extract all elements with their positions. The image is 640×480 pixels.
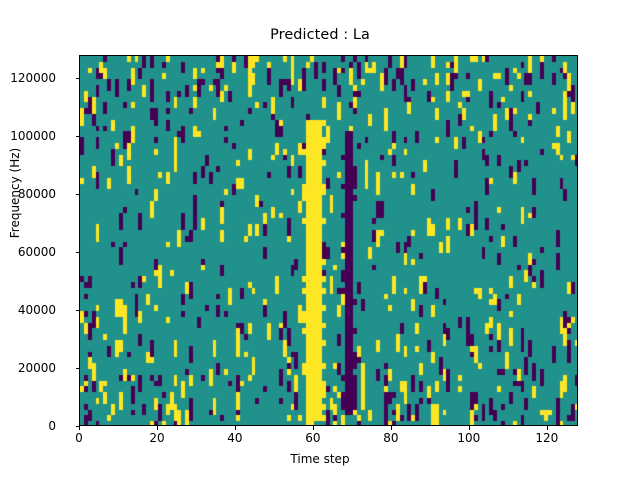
x-tick-label: 100 xyxy=(457,431,480,445)
x-tick-mark xyxy=(469,426,470,430)
y-tick-mark xyxy=(76,252,80,253)
y-tick-label: 40000 xyxy=(18,303,56,317)
x-tick-mark xyxy=(157,426,158,430)
x-tick-mark xyxy=(391,426,392,430)
x-tick-mark xyxy=(79,426,80,430)
y-tick-mark xyxy=(76,310,80,311)
x-axis-label: Time step xyxy=(0,452,640,466)
x-tick-mark xyxy=(235,426,236,430)
x-tick-mark xyxy=(547,426,548,430)
page-title: Predicted : La xyxy=(0,27,640,43)
x-tick-label: 120 xyxy=(535,431,558,445)
y-tick-label: 0 xyxy=(48,419,56,433)
x-tick-label: 60 xyxy=(305,431,320,445)
x-tick-label: 40 xyxy=(227,431,242,445)
y-tick-label: 80000 xyxy=(18,187,56,201)
matplotlib-figure: Predicted : La 0200004000060000800001000… xyxy=(0,0,640,480)
y-tick-label: 120000 xyxy=(10,71,56,85)
x-tick-label: 80 xyxy=(383,431,398,445)
y-axis-label: Frequency (Hz) xyxy=(8,123,22,263)
y-tick-mark xyxy=(76,78,80,79)
heatmap-image xyxy=(80,56,578,426)
y-tick-mark xyxy=(76,194,80,195)
x-tick-label: 20 xyxy=(149,431,164,445)
y-tick-mark xyxy=(76,368,80,369)
y-tick-mark xyxy=(76,136,80,137)
heatmap-axes xyxy=(79,55,578,426)
x-tick-mark xyxy=(313,426,314,430)
x-tick-label: 0 xyxy=(75,431,83,445)
y-tick-label: 20000 xyxy=(18,361,56,375)
y-tick-label: 60000 xyxy=(18,245,56,259)
